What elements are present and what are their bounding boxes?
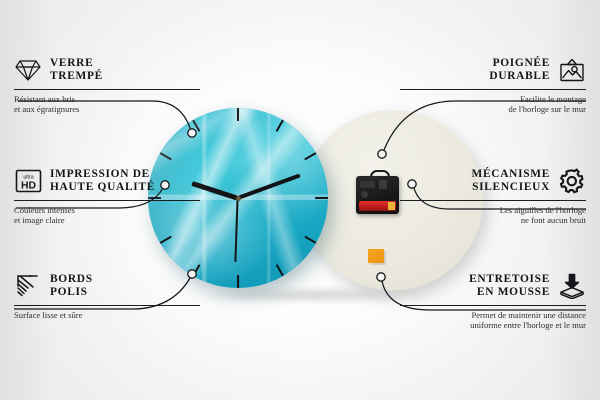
mechanism-detail — [360, 181, 375, 188]
feature-description: Permet de maintenir une distance uniform… — [400, 310, 586, 331]
gear-icon — [558, 167, 586, 195]
mechanism-housing — [356, 176, 399, 214]
feature-mecanisme-silencieux: MÉCANISME SILENCIEUX Les aiguilles de l'… — [400, 167, 586, 226]
feature-description: Facilite le montage de l'horloge sur le … — [400, 94, 586, 115]
feature-divider — [14, 200, 200, 201]
feature-divider — [14, 89, 200, 90]
feature-divider — [400, 305, 586, 306]
product-feature-infographic: VERRE TREMPÉ Résistant aux bris et aux é… — [0, 0, 600, 400]
feature-entretoise-mousse: ENTRETOISE EN MOUSSE Permet de maintenir… — [400, 272, 586, 331]
feature-title: BORDS POLIS — [50, 273, 93, 300]
feature-divider — [400, 200, 586, 201]
svg-text:ultra: ultra — [23, 174, 33, 180]
feature-impression-hd: ultra HD IMPRESSION DE HAUTE QUALITÉ Cou… — [14, 167, 200, 226]
feature-title: VERRE TREMPÉ — [50, 57, 103, 84]
feature-title: MÉCANISME SILENCIEUX — [472, 168, 550, 195]
feature-divider — [400, 89, 586, 90]
mechanism-detail — [379, 180, 387, 189]
polished-edges-icon — [14, 272, 42, 300]
battery-positive-cap — [388, 202, 395, 210]
feature-title: POIGNÉE DURABLE — [489, 57, 550, 84]
diamond-icon — [14, 56, 42, 84]
feature-divider — [14, 305, 200, 306]
feature-poignee-durable: POIGNÉE DURABLE Facilite le montage de l… — [400, 56, 586, 115]
clock-mechanism — [356, 170, 399, 214]
feature-description: Surface lisse et sûre — [14, 310, 200, 320]
ultra-hd-badge-icon: ultra HD — [14, 167, 42, 195]
feature-description: Couleurs intenses et image claire — [14, 205, 200, 226]
feature-description: Résistant aux bris et aux égratignures — [14, 94, 200, 115]
hanging-picture-frame-icon — [558, 56, 586, 84]
mechanism-detail — [361, 191, 368, 198]
foam-spacer-arrow-icon — [558, 272, 586, 300]
feature-bords-polis: BORDS POLIS Surface lisse et sûre — [14, 272, 200, 320]
feature-description: Les aiguilles de l'horloge ne font aucun… — [400, 205, 586, 226]
feature-title: ENTRETOISE EN MOUSSE — [469, 273, 550, 300]
feature-verre-trempe: VERRE TREMPÉ Résistant aux bris et aux é… — [14, 56, 200, 115]
svg-text:HD: HD — [20, 180, 36, 191]
aa-battery — [359, 201, 396, 211]
feature-title: IMPRESSION DE HAUTE QUALITÉ — [50, 168, 155, 195]
foam-spacer-pad — [368, 249, 384, 263]
